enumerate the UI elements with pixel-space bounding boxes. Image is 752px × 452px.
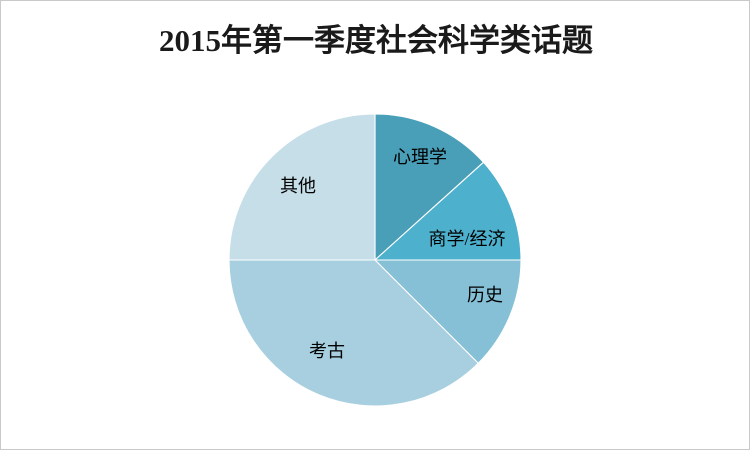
pie-slice-label-2: 商学/经济: [428, 229, 505, 249]
pie-slice-label-5: 其他: [280, 176, 316, 196]
pie-plot-area: 心理学商学/经济历史考古其他: [1, 1, 750, 450]
pie-slices-group: [229, 114, 521, 406]
pie-slice-label-3: 历史: [467, 285, 503, 305]
chart-container: 2015年第一季度社会科学类话题 心理学商学/经济历史考古其他: [0, 0, 750, 450]
pie-slice-label-4: 考古: [309, 341, 345, 361]
pie-chart-svg: 心理学商学/经济历史考古其他: [1, 1, 750, 450]
pie-slice-label-1: 心理学: [393, 147, 447, 167]
